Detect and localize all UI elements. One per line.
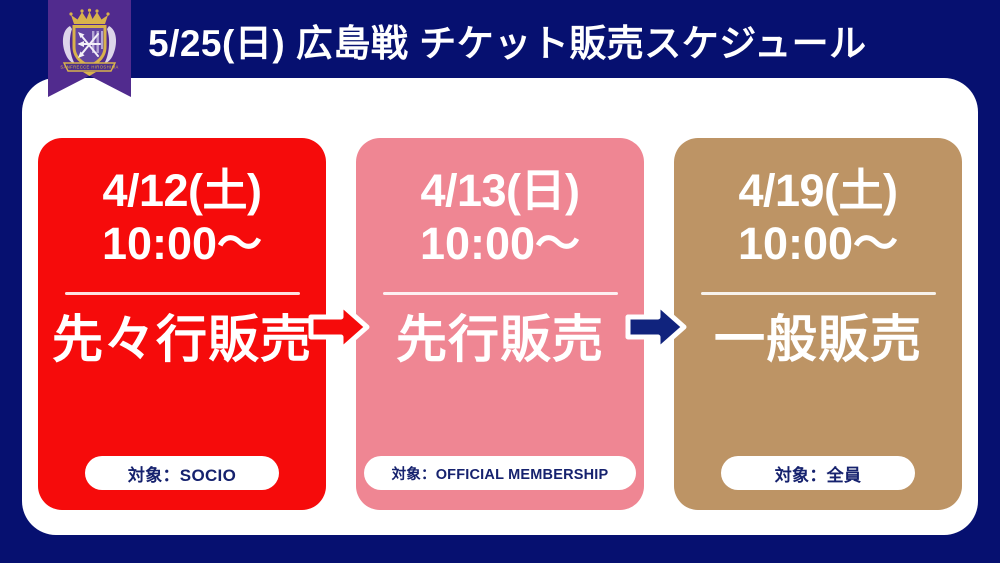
svg-text:SANFRECCE HIROSHIMA: SANFRECCE HIROSHIMA xyxy=(60,65,118,70)
phase-title: 先行販売 xyxy=(396,313,604,367)
arrow-right-icon xyxy=(625,300,687,354)
phase-target-badge: 対象：OFFICIAL MEMBERSHIP xyxy=(364,456,636,490)
schedule-infographic: 5/25(日) 広島戦 チケット販売スケジュール xyxy=(0,0,1000,563)
phase-target-badge: 対象：全員 xyxy=(721,456,915,490)
divider xyxy=(65,292,300,295)
phase-title: 先々行販売 xyxy=(52,313,312,367)
sales-phase-card-2[interactable]: 4/13(日) 10:00〜 先行販売 対象：OFFICIAL MEMBERSH… xyxy=(356,138,644,510)
page-title: 5/25(日) 広島戦 チケット販売スケジュール xyxy=(148,0,867,80)
divider xyxy=(383,292,618,295)
phase-time: 10:00〜 xyxy=(102,217,262,270)
header-bar: 5/25(日) 広島戦 チケット販売スケジュール xyxy=(0,0,1000,80)
phase-title: 一般販売 xyxy=(714,313,922,367)
divider xyxy=(701,292,936,295)
phase-date: 4/19(土) xyxy=(738,164,897,217)
sales-phase-card-1[interactable]: 4/12(土) 10:00〜 先々行販売 対象：SOCIO xyxy=(38,138,326,510)
phase-target-badge: 対象：SOCIO xyxy=(85,456,279,490)
sales-phase-list: 4/12(土) 10:00〜 先々行販売 対象：SOCIO 4/13(日) 10… xyxy=(38,138,962,510)
sales-phase-card-3[interactable]: 4/19(土) 10:00〜 一般販売 対象：全員 xyxy=(674,138,962,510)
phase-date: 4/13(日) xyxy=(420,164,579,217)
phase-time: 10:00〜 xyxy=(738,217,898,270)
club-crest-icon: SANFRECCE HIROSHIMA xyxy=(58,6,121,76)
phase-time: 10:00〜 xyxy=(420,217,580,270)
phase-date: 4/12(土) xyxy=(102,164,261,217)
arrow-right-icon xyxy=(308,300,370,354)
